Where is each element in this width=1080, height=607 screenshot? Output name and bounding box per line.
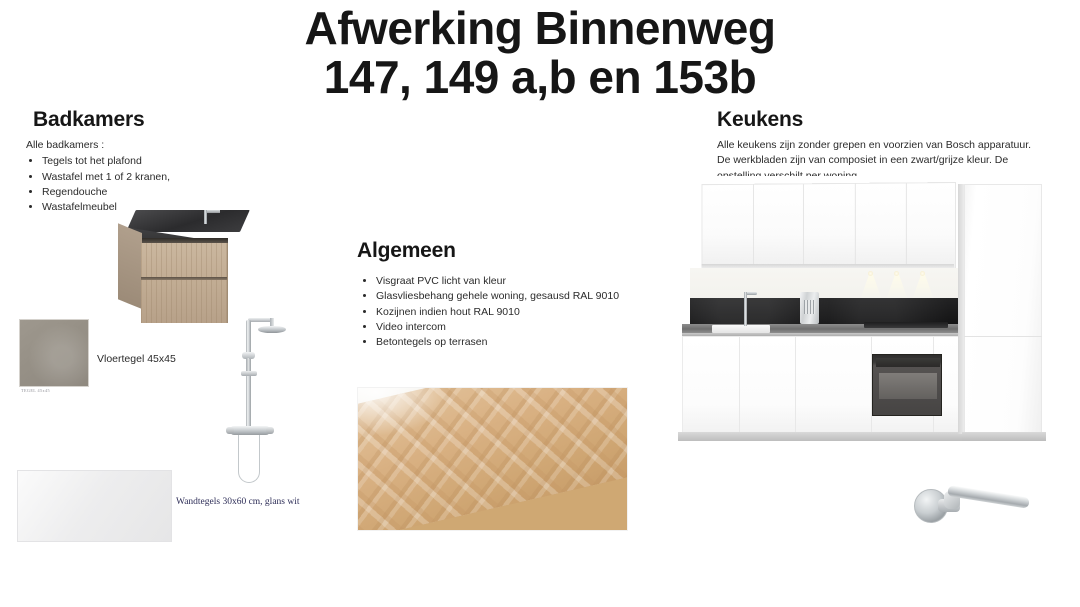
visgraat-pvc-vloer-image <box>357 387 628 531</box>
list-item: Visgraat PVC licht van kleur <box>376 274 640 289</box>
base-cabinet-seam <box>795 337 796 433</box>
section-heading-keukens: Keukens <box>717 108 803 132</box>
mixer-knob-right <box>266 427 274 434</box>
tall-unit-seam <box>964 336 1042 337</box>
oven-door-glass <box>879 373 937 399</box>
vanity-drawers <box>141 243 228 323</box>
keuken-opstelling-image <box>664 176 1080 454</box>
vanity-side-panel <box>118 223 142 309</box>
kitchen-tap <box>744 292 747 326</box>
title-line-2: 147, 149 a,b en 153b <box>0 53 1080 102</box>
section-heading-algemeen: Algemeen <box>357 239 456 263</box>
algemeen-list: Visgraat PVC licht van kleur Glasvliesbe… <box>360 274 640 351</box>
section-heading-badkamers: Badkamers <box>33 108 144 132</box>
floor-photo-daylight-glow <box>358 388 449 436</box>
kitchen-sink <box>712 325 770 333</box>
tall-unit-plinth <box>962 432 1046 441</box>
induction-hob <box>864 322 948 328</box>
vanity-countertop <box>126 210 250 232</box>
list-item: Video intercom <box>376 320 640 335</box>
title-line-1: Afwerking Binnenweg <box>0 4 1080 53</box>
hand-shower-handle <box>246 358 249 371</box>
section-body-badkamers: Alle badkamers : Tegels tot het plafond … <box>26 138 286 216</box>
wandtegel-swatch <box>17 470 172 542</box>
regendouche-image <box>222 308 284 488</box>
list-item: Wastafel met 1 of 2 kranen, <box>42 170 286 185</box>
wall-cabinet-seam <box>906 183 907 268</box>
list-item: Kozijnen indien hout RAL 9010 <box>376 305 640 320</box>
base-cabinet-seam <box>739 337 740 433</box>
rain-shower-head-icon <box>258 326 286 333</box>
under-cabinet-spotlight <box>920 271 925 276</box>
vloertegel-code-caption: TEGEL 45x45 <box>21 388 50 393</box>
wall-cabinet-seam <box>855 184 856 268</box>
shower-slider-bracket <box>241 371 257 376</box>
under-cabinet-spotlight <box>894 271 899 276</box>
built-in-oven <box>872 354 942 416</box>
tall-larder-unit <box>964 184 1042 434</box>
mixer-knob-left <box>226 427 234 434</box>
list-item: Betontegels op terrasen <box>376 335 640 350</box>
deurkruk-image <box>908 477 1036 539</box>
kitchen-wall-cabinets <box>702 182 956 270</box>
wall-cabinet-seam <box>803 184 804 267</box>
wastafelmeubel-image <box>118 210 240 315</box>
wall-cabinet-seam <box>753 185 754 268</box>
vloertegel-label: Vloertegel 45x45 <box>97 353 176 365</box>
page-title: Afwerking Binnenweg 147, 149 a,b en 153b <box>0 4 1080 102</box>
kitchen-backsplash <box>690 298 958 324</box>
shower-riser-rail <box>246 320 251 433</box>
under-cabinet-spotlight <box>868 271 873 276</box>
wandtegel-label: Wandtegels 30x60 cm, glans wit <box>176 497 300 507</box>
vloertegel-swatch <box>19 319 89 387</box>
coffee-machine <box>800 292 819 324</box>
kitchen-plinth <box>678 432 966 441</box>
badkamers-list: Tegels tot het plafond Wastafel met 1 of… <box>26 154 286 215</box>
list-item: Glasvliesbehang gehele woning, gesausd R… <box>376 289 640 304</box>
oven-control-panel <box>876 358 940 367</box>
section-body-algemeen: Visgraat PVC licht van kleur Glasvliesbe… <box>360 274 640 351</box>
shower-hose <box>238 435 260 483</box>
list-item: Regendouche <box>42 185 286 200</box>
thermostatic-mixer-bar <box>230 426 270 435</box>
vanity-tap <box>204 210 207 224</box>
list-item: Tegels tot het plafond <box>42 154 286 169</box>
brochure-page: Afwerking Binnenweg 147, 149 a,b en 153b… <box>0 0 1080 607</box>
badkamers-intro: Alle badkamers : <box>26 138 286 153</box>
